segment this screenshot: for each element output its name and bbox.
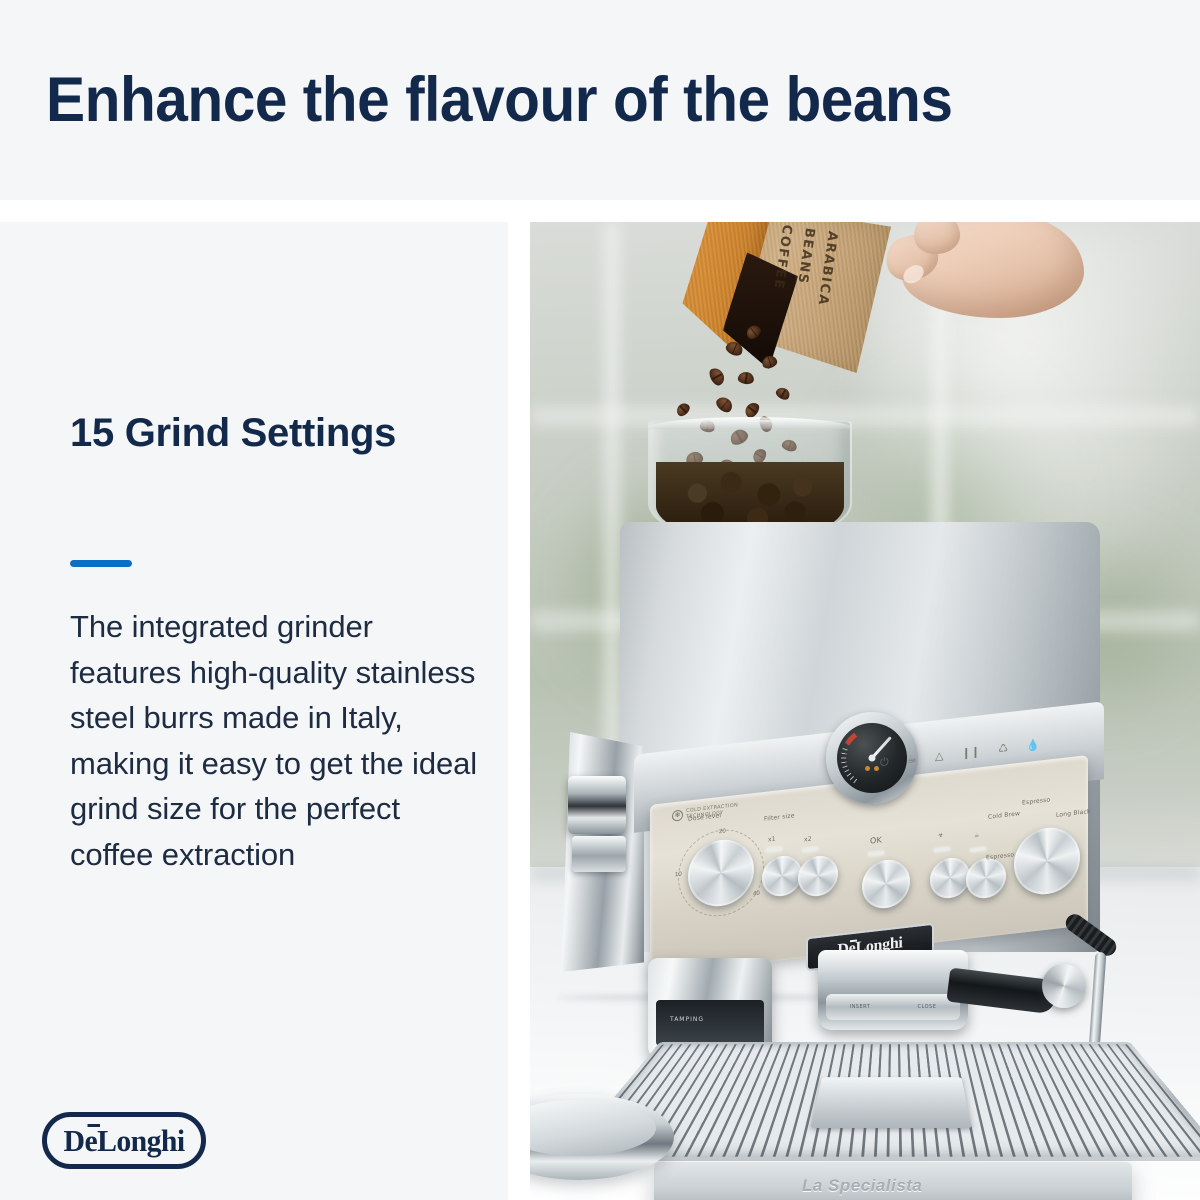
delonghi-logo: DeLonghi	[42, 1112, 206, 1169]
dose-value-max: 40	[753, 891, 760, 898]
gauge-indicator-lights	[865, 766, 879, 771]
tamping-label: TAMPING	[670, 1016, 704, 1023]
insert-label: INSERT	[850, 1004, 871, 1010]
feature-description: The integrated grinder features high-qua…	[70, 604, 488, 877]
espresso-machine: ❄ COLD EXTRACTION TECHNOLOGY	[550, 522, 1190, 1162]
feature-text-panel: 15 Grind Settings The integrated grinder…	[0, 222, 508, 1200]
macron-accent-icon	[87, 1124, 99, 1127]
tamper-disc-top	[530, 1100, 656, 1156]
machine-base: La Specialista	[654, 1162, 1132, 1200]
gauge-light	[874, 766, 879, 771]
clean-icon: ♺	[998, 743, 1008, 755]
cup-icon: ☕	[907, 753, 917, 765]
gauge-hub	[869, 755, 876, 762]
lever-handle-lower[interactable]	[572, 836, 626, 872]
accent-rule	[70, 560, 132, 567]
ok-button-label: OK	[870, 835, 882, 845]
steam-icon: ☣	[938, 832, 944, 840]
page-header: Enhance the flavour of the beans	[0, 0, 1200, 200]
header-divider	[0, 200, 1200, 222]
gauge-light	[865, 766, 870, 771]
bag-label-line-2: BEANS	[792, 227, 817, 304]
promo-page: Enhance the flavour of the beans 15 Grin…	[0, 0, 1200, 1200]
portafilter-cavity	[656, 1000, 764, 1046]
descale-icon: △	[935, 750, 943, 762]
group-head-ring[interactable]: INSERT CLOSE	[826, 994, 960, 1020]
delonghi-logo-wordmark: DeLonghi	[63, 1123, 184, 1158]
snowflake-icon: ❄	[672, 809, 683, 821]
close-label: CLOSE	[918, 1004, 937, 1010]
feature-subheading: 15 Grind Settings	[70, 408, 450, 459]
hot-water-icon: ☕	[974, 832, 980, 840]
model-name: La Specialista	[802, 1176, 922, 1196]
brew-group-head: INSERT CLOSE	[818, 950, 968, 1030]
filter-x1-label: x1	[768, 836, 776, 844]
dose-value-min: 10	[675, 871, 682, 878]
column-gutter	[508, 200, 530, 1200]
page-title: Enhance the flavour of the beans	[46, 67, 952, 133]
filter-x2-label: x2	[804, 836, 812, 844]
hand	[880, 222, 1110, 335]
pause-icon: ❙❙	[962, 746, 980, 759]
water-drop-icon: 💧	[1026, 739, 1040, 752]
grinder-chute-lever[interactable]	[558, 732, 644, 972]
product-photo: COFFEE BEANS ARABICA	[530, 222, 1200, 1200]
delonghi-logo-text: DeLonghi	[63, 1125, 184, 1156]
dose-value-mid: 20	[719, 828, 726, 835]
coffee-bag-label: COFFEE BEANS ARABICA	[769, 224, 840, 307]
lever-handle-upper[interactable]	[568, 776, 626, 834]
window-mullion	[530, 408, 1200, 424]
drip-tray-plate	[810, 1077, 972, 1128]
power-icon: ⏻	[880, 756, 889, 768]
